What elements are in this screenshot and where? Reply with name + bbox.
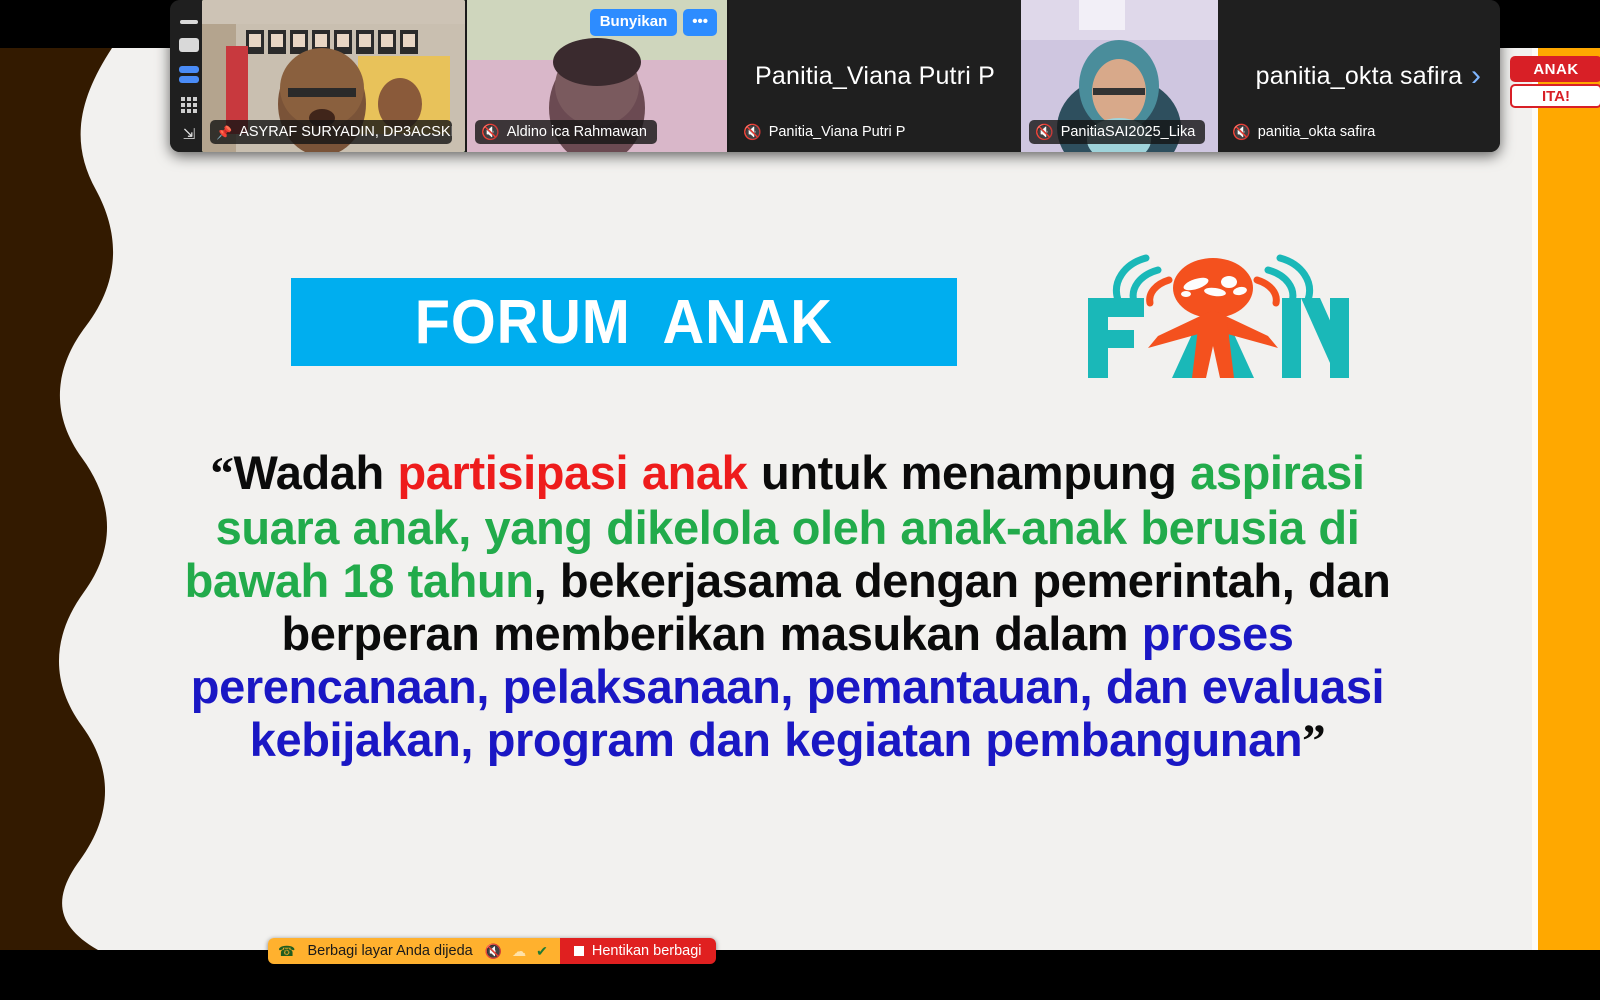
speaker-view-icon[interactable] bbox=[179, 38, 199, 52]
slide-corner-sticker: ANAK ITA! bbox=[1504, 56, 1600, 108]
pin-icon: 📌 bbox=[216, 126, 232, 139]
video-tile-asyraf[interactable]: 📌 ASYRAF SURYADIN, DP3ACSKB B... bbox=[202, 0, 465, 152]
video-tile-okta[interactable]: panitia_okta safira 🔇 panitia_okta safir… bbox=[1218, 0, 1500, 152]
video-tile-lika[interactable]: 🔇 PanitiaSAI2025_Lika bbox=[1021, 0, 1218, 152]
expand-arrows-icon[interactable]: ⇲ bbox=[183, 127, 196, 142]
minimize-dash-icon[interactable] bbox=[180, 20, 198, 24]
tile-hover-controls[interactable]: Bunyikan ••• bbox=[590, 9, 717, 36]
mic-off-icon[interactable]: 🔇 bbox=[485, 944, 502, 958]
sticker-line-1: ANAK bbox=[1510, 56, 1600, 82]
slide-quote-text: “Wadah partisipasi anak untuk menampung … bbox=[180, 446, 1395, 768]
quote-close-mark: ” bbox=[1302, 715, 1325, 767]
forum-anak-nasional-logo bbox=[1068, 248, 1358, 378]
phone-icon: ☎ bbox=[278, 944, 295, 958]
unmute-button[interactable]: Bunyikan bbox=[590, 9, 678, 36]
cloud-icon[interactable]: ☁ bbox=[512, 944, 526, 958]
quote-segment-1: partisipasi anak bbox=[398, 446, 748, 499]
quote-segment-0: Wadah bbox=[234, 446, 398, 499]
stop-sharing-button[interactable]: Hentikan berbagi bbox=[560, 938, 716, 964]
participant-name: Panitia_Viana Putri P bbox=[769, 124, 906, 140]
slide-title-text: FORUM ANAK bbox=[415, 287, 833, 358]
video-filmstrip[interactable]: ⇲ bbox=[170, 0, 1500, 152]
sticker-line-2: ITA! bbox=[1510, 84, 1600, 108]
video-tile-name-tag: 📌 ASYRAF SURYADIN, DP3ACSKB B... bbox=[210, 120, 452, 144]
slide-title-banner: FORUM ANAK bbox=[291, 278, 957, 366]
video-tile-name-tag: 🔇 Panitia_Viana Putri P bbox=[737, 120, 915, 144]
quote-segment-2: untuk menampung bbox=[747, 446, 1190, 499]
shared-slide: FORUM ANAK bbox=[0, 48, 1600, 950]
shield-check-icon[interactable]: ✔ bbox=[536, 944, 548, 958]
video-tile-name-tag: 🔇 PanitiaSAI2025_Lika bbox=[1029, 120, 1205, 144]
grid-view-icon[interactable] bbox=[181, 97, 197, 113]
video-tile-viana[interactable]: Panitia_Viana Putri P 🔇 Panitia_Viana Pu… bbox=[729, 0, 1021, 152]
screen-share-status-bar[interactable]: ☎ Berbagi layar Anda dijeda 🔇 ☁ ✔ Hentik… bbox=[268, 938, 716, 964]
participant-name: panitia_okta safira bbox=[1258, 124, 1376, 140]
video-tile-name-tag: 🔇 Aldino ica Rahmawan bbox=[475, 120, 657, 144]
video-tile-aldino[interactable]: Bunyikan ••• 🔇 Aldino ica Rahmawan bbox=[467, 0, 727, 152]
slide-band-right-orange bbox=[1538, 48, 1600, 950]
quote-open-mark: “ bbox=[210, 448, 233, 500]
share-status-icons: 🔇 ☁ ✔ bbox=[485, 944, 548, 958]
share-status-group: ☎ Berbagi layar Anda dijeda 🔇 ☁ ✔ bbox=[268, 938, 560, 964]
slide-wave-decoration-left bbox=[0, 48, 180, 950]
participant-name: PanitiaSAI2025_Lika bbox=[1061, 124, 1196, 140]
filmstrip-next-arrow[interactable]: › bbox=[1462, 54, 1490, 98]
screen-root: FORUM ANAK bbox=[0, 0, 1600, 1000]
mic-off-icon: 🔇 bbox=[743, 125, 762, 140]
mic-off-icon: 🔇 bbox=[1035, 125, 1054, 140]
video-tile-name-tag: 🔇 panitia_okta safira bbox=[1226, 120, 1385, 144]
share-status-text: Berbagi layar Anda dijeda bbox=[307, 943, 472, 959]
mic-off-icon: 🔇 bbox=[1232, 125, 1251, 140]
participant-name: Aldino ica Rahmawan bbox=[507, 124, 647, 140]
participant-name: ASYRAF SURYADIN, DP3ACSKB B... bbox=[239, 124, 452, 140]
more-options-button[interactable]: ••• bbox=[683, 9, 717, 36]
gallery-view-icon[interactable] bbox=[179, 66, 199, 83]
mic-off-icon: 🔇 bbox=[481, 125, 500, 140]
stop-sharing-label: Hentikan berbagi bbox=[592, 943, 702, 959]
stop-square-icon bbox=[574, 946, 584, 956]
